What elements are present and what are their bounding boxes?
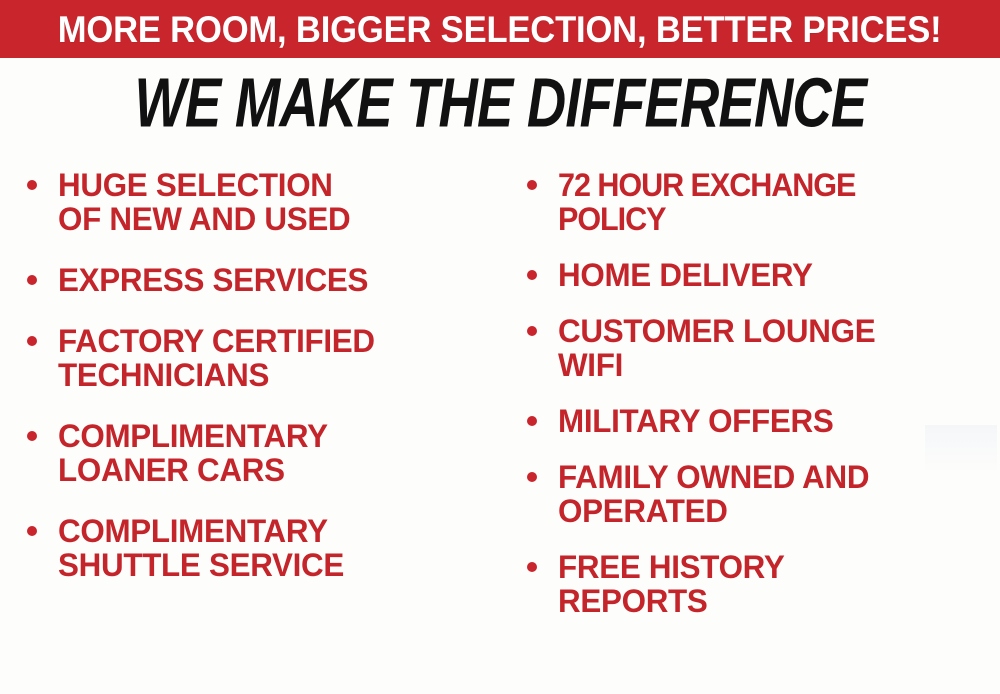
- list-item: EXPRESS SERVICES: [22, 263, 500, 297]
- list-item-label: FACTORY CERTIFIED TECHNICIANS: [58, 324, 491, 392]
- banner-headline-text: MORE ROOM, BIGGER SELECTION, BETTER PRIC…: [58, 11, 942, 48]
- list-item: 72 HOUR EXCHANGE POLICY: [522, 168, 1000, 236]
- bullet-dot-icon: [27, 336, 37, 346]
- list-item: FACTORY CERTIFIED TECHNICIANS: [22, 324, 500, 392]
- list-item-label: MILITARY OFFERS: [558, 404, 991, 438]
- main-headline-container: WE MAKE THE DIFFERENCE: [0, 62, 1000, 144]
- bullet-dot-icon: [527, 180, 537, 190]
- top-banner: MORE ROOM, BIGGER SELECTION, BETTER PRIC…: [0, 0, 1000, 58]
- list-item: HUGE SELECTION OF NEW AND USED: [22, 168, 500, 236]
- list-item-label: FREE HISTORY REPORTS: [558, 550, 991, 618]
- list-item: COMPLIMENTARY LOANER CARS: [22, 419, 500, 487]
- bullet-dot-icon: [27, 526, 37, 536]
- list-item-label: HOME DELIVERY: [558, 258, 991, 292]
- list-item: HOME DELIVERY: [522, 258, 1000, 292]
- list-item-label: CUSTOMER LOUNGE WIFI: [558, 314, 991, 382]
- poster-root: MORE ROOM, BIGGER SELECTION, BETTER PRIC…: [0, 0, 1000, 694]
- list-item-label: COMPLIMENTARY SHUTTLE SERVICE: [58, 514, 491, 582]
- list-item: FAMILY OWNED AND OPERATED: [522, 460, 1000, 528]
- list-item: FREE HISTORY REPORTS: [522, 550, 1000, 618]
- benefits-columns: HUGE SELECTION OF NEW AND USED EXPRESS S…: [0, 160, 1000, 694]
- list-item-label: EXPRESS SERVICES: [58, 263, 491, 297]
- bullet-dot-icon: [27, 275, 37, 285]
- bullet-dot-icon: [527, 270, 537, 280]
- list-item-label: 72 HOUR EXCHANGE POLICY: [558, 168, 980, 236]
- bullet-dot-icon: [27, 180, 37, 190]
- list-item-label: HUGE SELECTION OF NEW AND USED: [58, 168, 491, 236]
- list-item-label: FAMILY OWNED AND OPERATED: [558, 460, 991, 528]
- bullet-dot-icon: [527, 472, 537, 482]
- bullet-dot-icon: [27, 431, 37, 441]
- bullet-dot-icon: [527, 326, 537, 336]
- main-headline-text: WE MAKE THE DIFFERENCE: [134, 68, 866, 137]
- list-item: MILITARY OFFERS: [522, 404, 1000, 438]
- list-item: CUSTOMER LOUNGE WIFI: [522, 314, 1000, 382]
- list-item: COMPLIMENTARY SHUTTLE SERVICE: [22, 514, 500, 582]
- benefits-column-left: HUGE SELECTION OF NEW AND USED EXPRESS S…: [0, 160, 500, 609]
- bullet-dot-icon: [527, 416, 537, 426]
- bullet-dot-icon: [527, 562, 537, 572]
- list-item-label: COMPLIMENTARY LOANER CARS: [58, 419, 491, 487]
- benefits-column-right: 72 HOUR EXCHANGE POLICY HOME DELIVERY CU…: [500, 160, 1000, 640]
